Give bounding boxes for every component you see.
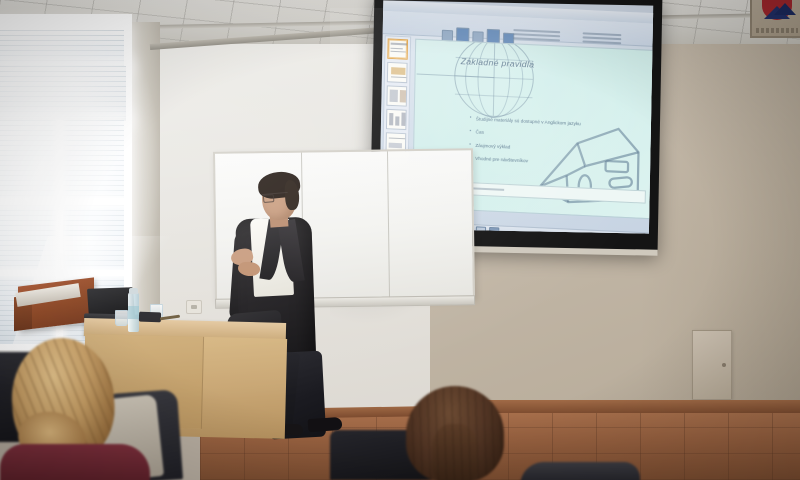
classroom-presentation-photo: Základné pravidlá Študijné materiály sú … (0, 0, 800, 480)
emblem-mountain-right-icon (774, 3, 796, 15)
audience-member-3-shoulder (520, 462, 640, 480)
media-icon[interactable] (476, 226, 486, 233)
folder-icon[interactable] (489, 227, 499, 234)
power-outlet (186, 300, 202, 314)
slide-thumbnail-1[interactable] (387, 38, 408, 59)
slide-thumbnail-2[interactable] (387, 62, 408, 83)
drinking-glass-1 (115, 310, 128, 326)
slide-thumbnail-3[interactable] (386, 85, 407, 106)
window-mullion-horizontal-2 (0, 270, 124, 276)
audience-member-1-top (0, 444, 150, 480)
desk-dark-object (139, 312, 161, 323)
globe-graphic-icon (454, 39, 535, 119)
whiteboard-seam-2 (387, 151, 390, 297)
ribbon-text-column-2 (582, 32, 621, 46)
window-mullion-horizontal (0, 198, 124, 205)
wall-access-panel (692, 330, 732, 400)
blind-box-slats (0, 66, 126, 118)
water-bottle-cap (129, 288, 138, 294)
emblem-caption-text (756, 28, 798, 33)
ribbon-text-column-1 (513, 29, 560, 43)
water-bottle-label (128, 306, 139, 319)
window-blind-box (0, 66, 126, 121)
audience-member-2-hair-strands (406, 386, 504, 480)
wall-emblem-plaque (750, 0, 800, 38)
transom-blind-slats (0, 30, 124, 66)
window-transom (0, 30, 124, 66)
slide-thumbnail-4[interactable] (386, 109, 407, 130)
